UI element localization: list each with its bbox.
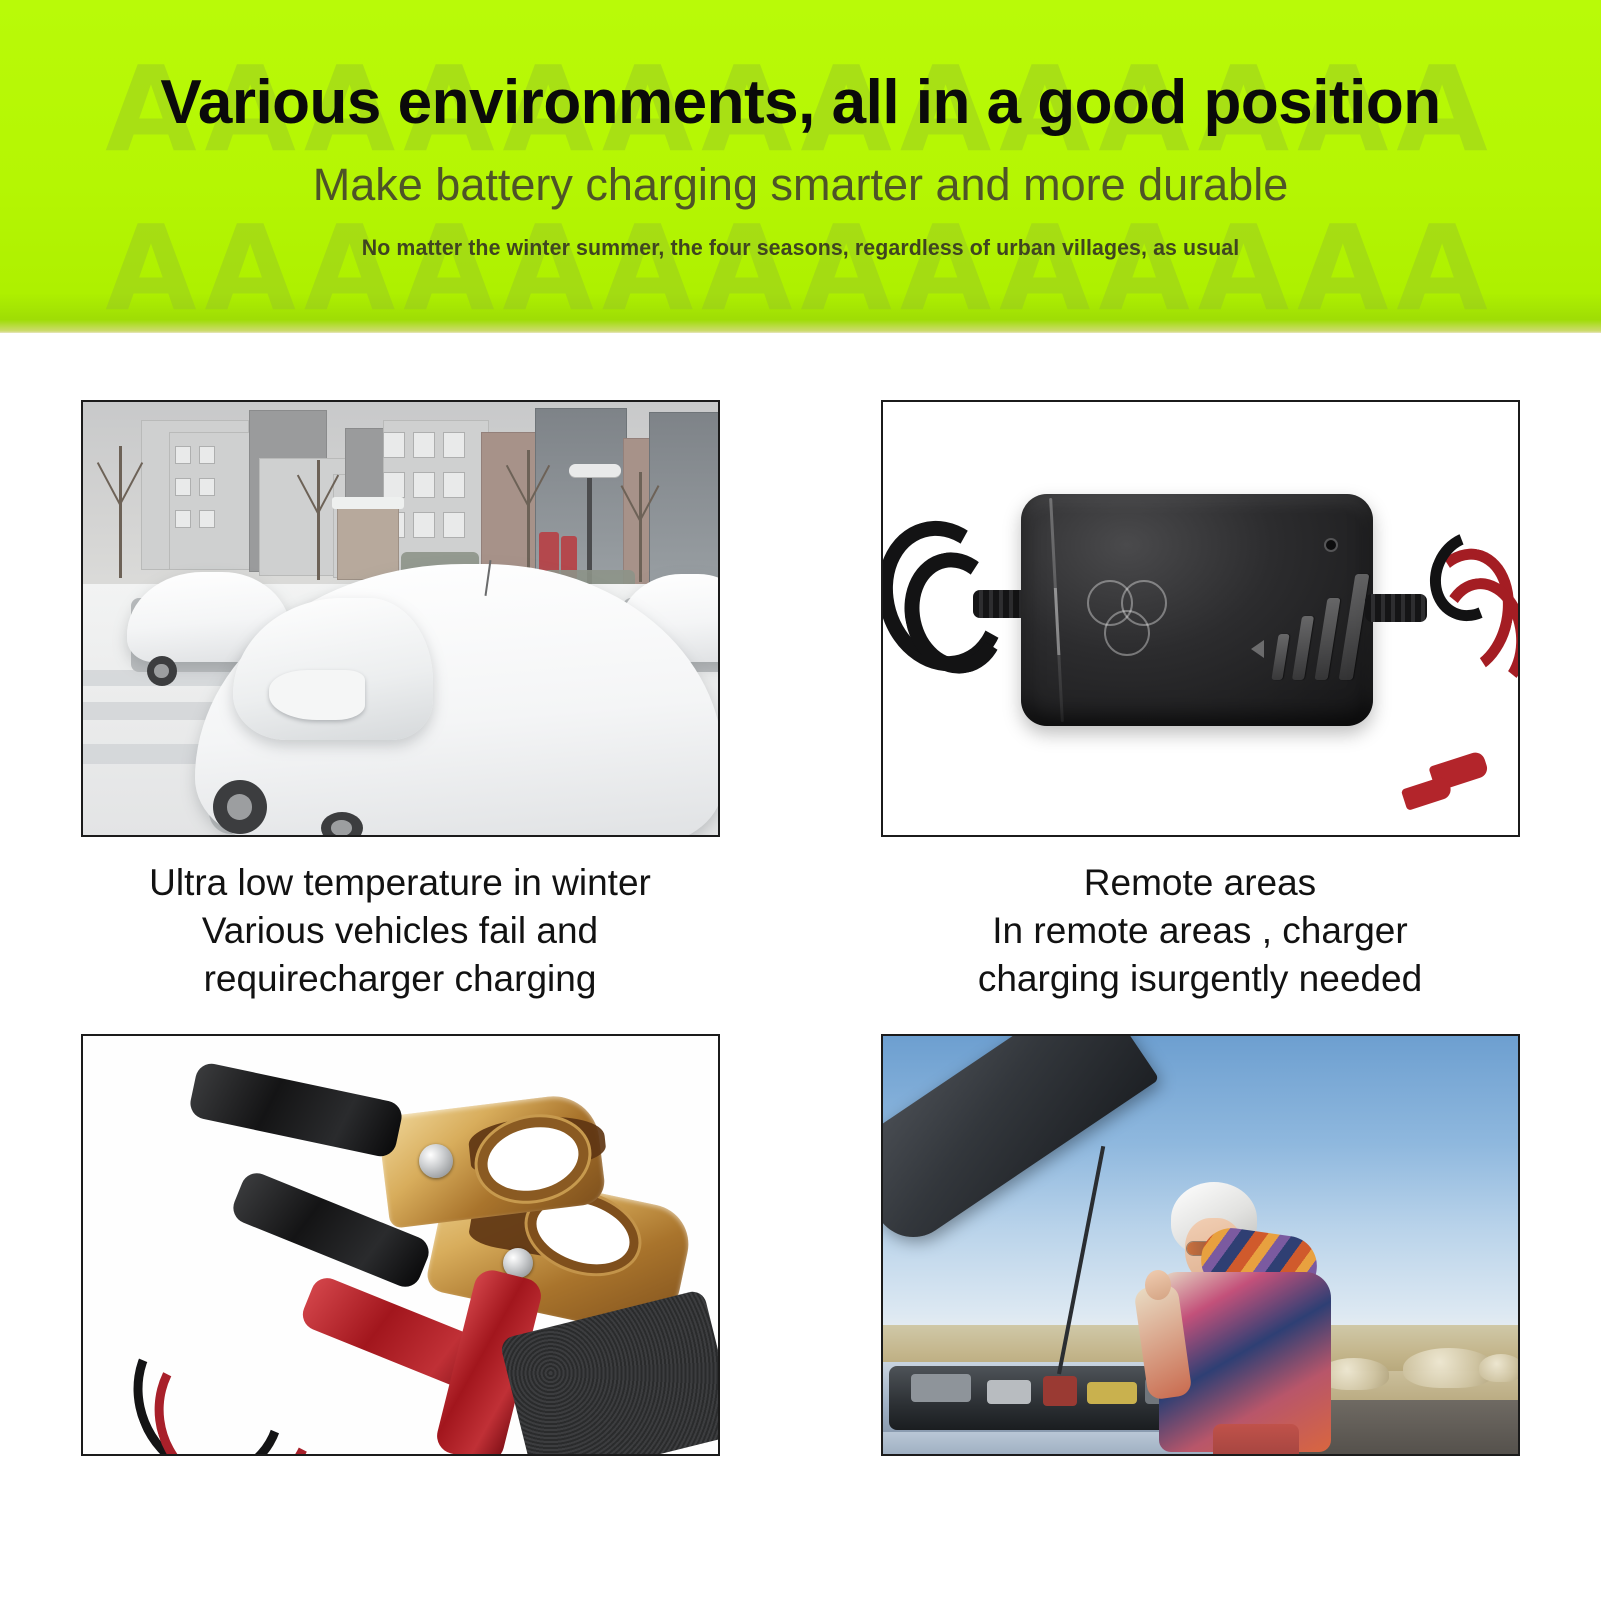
caption-line: charging isurgently needed <box>978 955 1422 1003</box>
feature-card-winter: Ultra low temperature in winter Various … <box>0 400 800 1003</box>
caption-line: Various vehicles fail and <box>149 907 651 955</box>
feature-card-remote: Remote areas In remote areas , charger c… <box>800 400 1600 1003</box>
hero-tagline: No matter the winter summer, the four se… <box>24 207 1577 259</box>
hero-title: Various environments, all in a good posi… <box>0 0 1601 134</box>
feature-card-roadside <box>800 1034 1600 1456</box>
feature-card-clamps <box>0 1034 800 1456</box>
caption-line: requirecharger charging <box>149 955 651 1003</box>
caption-line: In remote areas , charger <box>978 907 1422 955</box>
caption-winter: Ultra low temperature in winter Various … <box>149 837 651 1003</box>
feature-grid: Ultra low temperature in winter Various … <box>0 333 1601 1456</box>
feature-row-top: Ultra low temperature in winter Various … <box>0 333 1601 1003</box>
feature-row-bottom <box>0 1003 1601 1456</box>
caption-remote: Remote areas In remote areas , charger c… <box>978 837 1422 1003</box>
hero-banner: AAAAAAAAAAAAAAAAAAAAAAAAAAAA Various env… <box>0 0 1601 333</box>
caption-line: Remote areas <box>978 859 1422 907</box>
battery-alligator-clamps-photo <box>81 1034 720 1456</box>
hero-text-block: Various environments, all in a good posi… <box>0 0 1601 259</box>
charger-led-icon <box>1326 540 1336 550</box>
charger-vent-ribs-icon <box>1251 570 1377 680</box>
snow-covered-cars-street-photo <box>81 400 720 837</box>
charger-logo-icon <box>1087 580 1173 660</box>
hero-subtitle: Make battery charging smarter and more d… <box>0 134 1601 207</box>
woman-roadside-car-breakdown-photo <box>881 1034 1520 1456</box>
caption-line: Ultra low temperature in winter <box>149 859 651 907</box>
black-battery-charger-brick-photo <box>881 400 1520 837</box>
